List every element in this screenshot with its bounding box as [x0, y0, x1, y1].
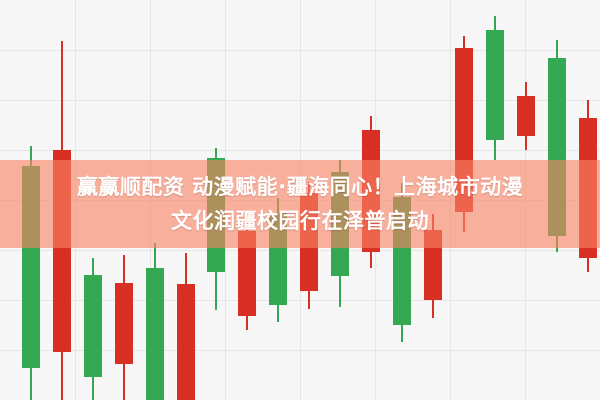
candlestick-body — [146, 268, 164, 400]
headline-line-1: 赢赢顺配资 动漫赋能·疆海同心！上海城市动漫 — [77, 170, 523, 204]
candlestick-body — [177, 284, 195, 400]
candlestick-body — [84, 275, 102, 377]
stock-candlestick-banner-image: 赢赢顺配资 动漫赋能·疆海同心！上海城市动漫 文化润疆校园行在泽普启动 — [0, 0, 600, 400]
headline-line-2: 文化润疆校园行在泽普启动 — [171, 204, 429, 238]
headline-banner: 赢赢顺配资 动漫赋能·疆海同心！上海城市动漫 文化润疆校园行在泽普启动 — [0, 160, 600, 248]
candlestick-body — [486, 30, 504, 140]
candlestick-body — [115, 283, 133, 364]
candlestick-body — [517, 96, 535, 136]
